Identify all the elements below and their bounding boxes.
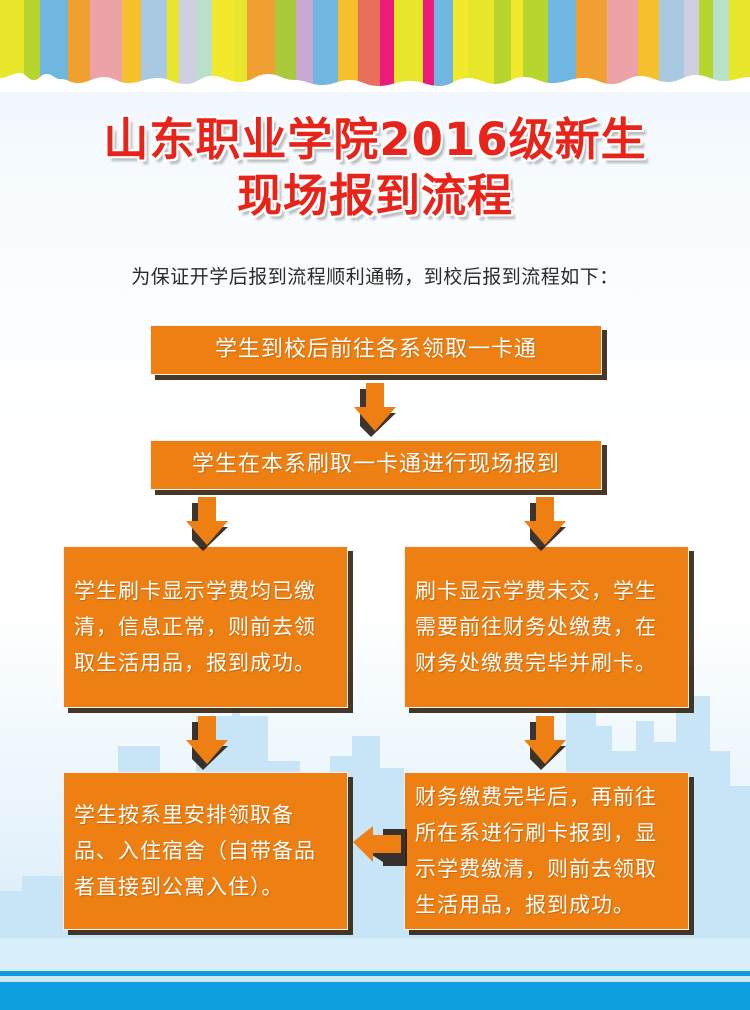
- header-stripe: [141, 0, 167, 86]
- header-stripe: [729, 0, 750, 86]
- down-arrow-icon: [186, 497, 228, 551]
- header-stripe: [380, 0, 394, 86]
- down-arrow-icon: [186, 716, 228, 770]
- header-stripe: [24, 0, 40, 86]
- header-stripe: [453, 0, 468, 86]
- header-stripe: [699, 0, 713, 86]
- header-stripe: [247, 0, 274, 86]
- header-stripe: [179, 0, 197, 86]
- header-stripe: [434, 0, 453, 86]
- header-stripe: [313, 0, 338, 86]
- header-stripe: [212, 0, 235, 86]
- header-stripe: [713, 0, 729, 86]
- flow-box-tuition-unpaid-text: 刷卡显示学费未交，学生需要前往财务处缴费，在财务处缴费完毕并刷卡。: [405, 573, 688, 681]
- left-arrow-icon: [353, 822, 407, 866]
- down-arrow-icon: [524, 716, 566, 770]
- header-stripe: [296, 0, 313, 86]
- header-stripe: [68, 0, 89, 86]
- header-stripe: [523, 0, 547, 86]
- header-stripe: [338, 0, 358, 86]
- flow-box-dormitory: 学生按系里安排领取备品、入住宿舍（自带备品者直接到公寓入住）。: [63, 772, 348, 930]
- poster-canvas: 山东职业学院2016级新生 现场报到流程 为保证开学后报到流程顺利通畅，到校后报…: [0, 0, 750, 1010]
- header-stripe-band: [0, 0, 750, 86]
- header-stripe: [423, 0, 434, 86]
- header-stripe: [684, 0, 699, 86]
- header-stripe: [548, 0, 576, 86]
- poster-title: 山东职业学院2016级新生 现场报到流程: [0, 112, 750, 224]
- header-stripe: [358, 0, 380, 86]
- header-stripe: [197, 0, 212, 86]
- header-stripe: [394, 0, 423, 86]
- title-line-2: 现场报到流程: [0, 168, 750, 224]
- flow-box-step2: 学生在本系刷取一卡通进行现场报到: [150, 440, 602, 490]
- header-stripe: [235, 0, 248, 86]
- flow-box-step1: 学生到校后前往各系领取一卡通: [150, 325, 602, 375]
- header-stripe: [167, 0, 179, 86]
- flow-box-step1-text: 学生到校后前往各系领取一卡通: [205, 335, 547, 365]
- poster-subtitle: 为保证开学后报到流程顺利通畅，到校后报到流程如下：: [0, 262, 750, 289]
- down-arrow-icon: [524, 497, 566, 551]
- header-stripe: [659, 0, 684, 86]
- header-stripe: [511, 0, 524, 86]
- down-arrow-icon: [354, 383, 396, 437]
- flow-box-after-payment-text: 财务缴费完毕后，再前往所在系进行刷卡报到，显示学费缴清，则前去领取生活用品，报到…: [405, 779, 688, 923]
- header-stripe: [40, 0, 68, 86]
- header-stripe: [607, 0, 639, 86]
- header-stripe: [0, 0, 24, 86]
- flow-box-step2-text: 学生在本系刷取一卡通进行现场报到: [182, 450, 570, 480]
- bottom-accent-band: [0, 982, 750, 1010]
- header-stripe: [576, 0, 607, 86]
- flow-box-dormitory-text: 学生按系里安排领取备品、入住宿舍（自带备品者直接到公寓入住）。: [64, 797, 347, 905]
- header-stripe: [90, 0, 123, 86]
- header-stripe: [468, 0, 494, 86]
- flow-box-tuition-unpaid: 刷卡显示学费未交，学生需要前往财务处缴费，在财务处缴费完毕并刷卡。: [404, 546, 689, 708]
- header-stripe: [122, 0, 141, 86]
- title-line-1: 山东职业学院2016级新生: [0, 112, 750, 168]
- flow-box-after-payment: 财务缴费完毕后，再前往所在系进行刷卡报到，显示学费缴清，则前去领取生活用品，报到…: [404, 772, 689, 930]
- header-stripe: [494, 0, 511, 86]
- flow-box-tuition-paid: 学生刷卡显示学费均已缴清，信息正常，则前去领取生活用品，报到成功。: [63, 546, 348, 708]
- flow-box-tuition-paid-text: 学生刷卡显示学费均已缴清，信息正常，则前去领取生活用品，报到成功。: [64, 573, 347, 681]
- header-stripe: [275, 0, 296, 86]
- header-stripe: [638, 0, 659, 86]
